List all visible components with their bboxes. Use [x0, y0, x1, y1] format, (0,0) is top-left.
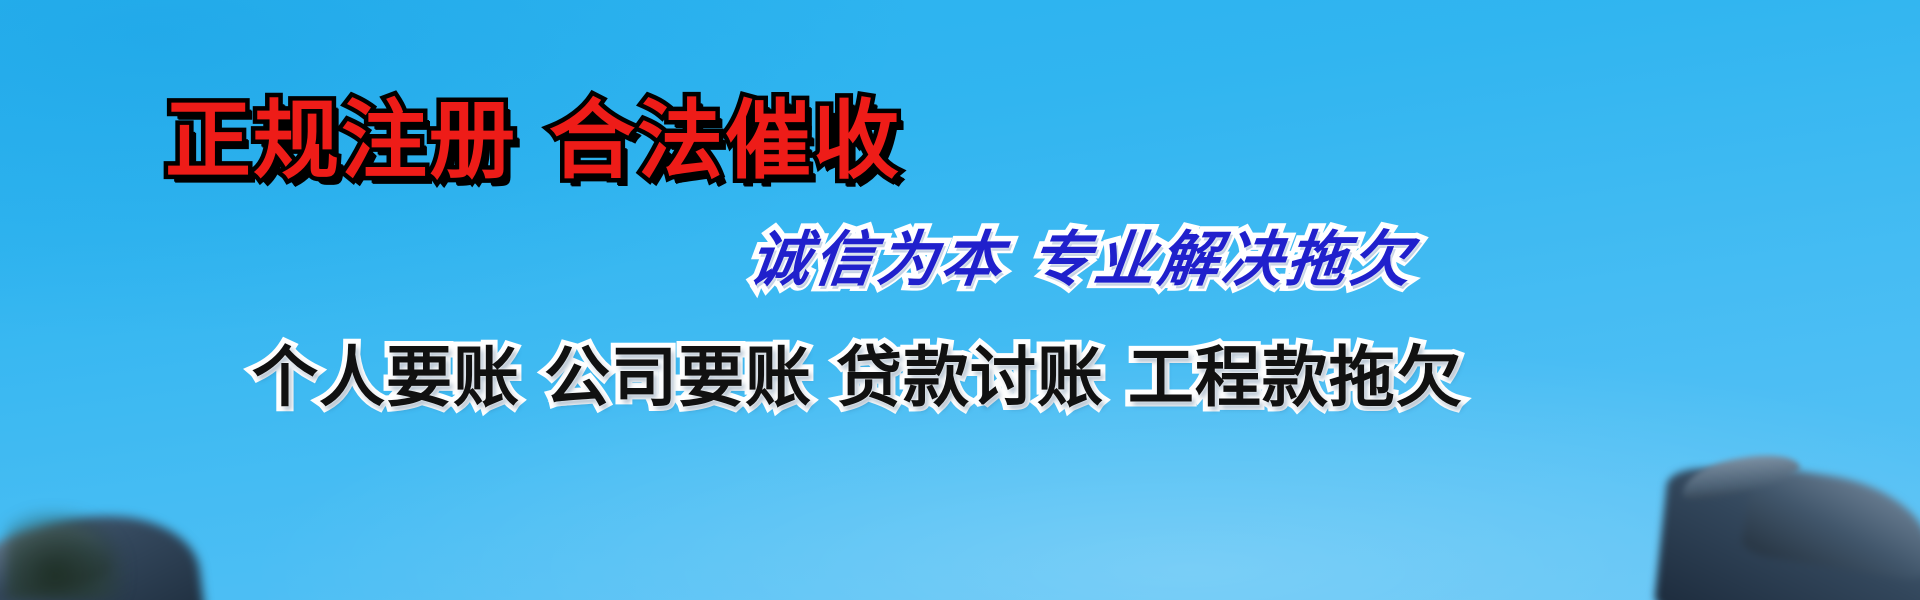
banner-headline: 正规注册 合法催收 [165, 98, 901, 184]
promo-banner: 正规注册 合法催收 诚信为本 专业解决拖欠 个人要账 公司要账 贷款讨账 工程款… [0, 0, 1920, 600]
banner-text-layer: 正规注册 合法催收 诚信为本 专业解决拖欠 个人要账 公司要账 贷款讨账 工程款… [0, 0, 1920, 600]
banner-services-list: 个人要账 公司要账 贷款讨账 工程款拖欠 [252, 345, 1463, 411]
banner-subheadline: 诚信为本 专业解决拖欠 [746, 230, 1418, 290]
